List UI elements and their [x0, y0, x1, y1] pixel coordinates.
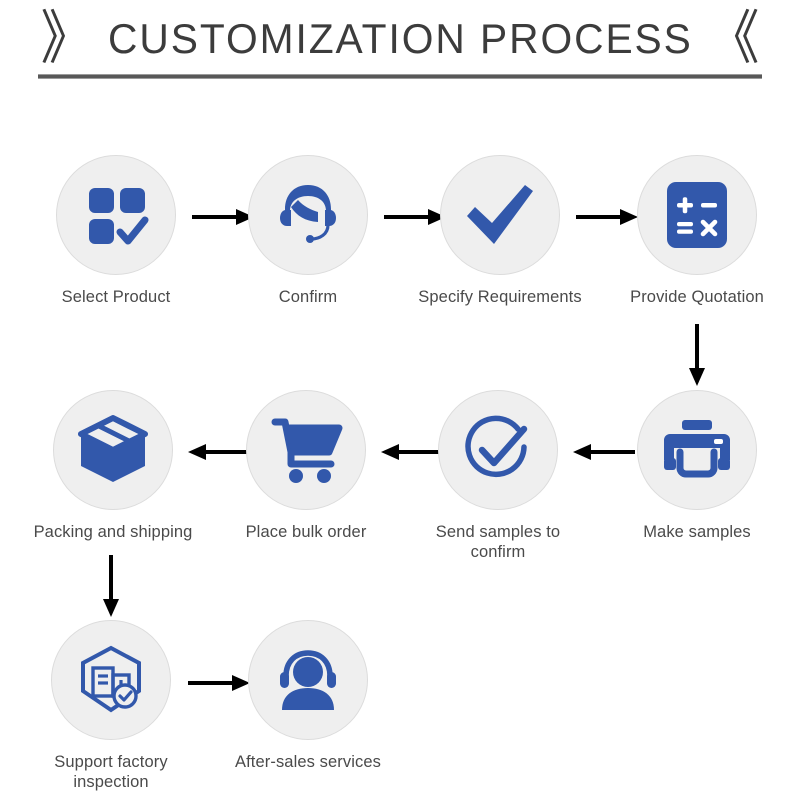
place-bulk-order-bubble: [246, 390, 366, 510]
confirm-bubble: [248, 155, 368, 275]
flow-node-label: Make samples: [612, 522, 782, 542]
connector-arrow-down-1: [688, 324, 706, 386]
chevron-right-decoration: 《: [707, 10, 759, 68]
flow-node-provide-quotation[interactable]: Provide Quotation: [612, 155, 782, 307]
shopping-cart-icon: [269, 416, 343, 484]
flow-node-support-factory-inspection[interactable]: Support factory inspection: [26, 620, 196, 792]
flow-node-packing-and-shipping[interactable]: Packing and shipping: [28, 390, 198, 542]
after-sales-services-bubble: [248, 620, 368, 740]
page-title: CUSTOMIZATION PROCESS: [108, 16, 693, 62]
headset-agent-icon: [273, 180, 343, 250]
circle-check-icon: [462, 414, 534, 486]
process-flow-diagram: Select Product Confirm: [0, 92, 800, 800]
support-person-icon: [272, 648, 344, 712]
flow-node-label: Select Product: [31, 287, 201, 307]
calculator-icon: [664, 179, 730, 251]
flow-node-label: After-sales services: [223, 752, 393, 772]
make-samples-bubble: [637, 390, 757, 510]
flow-node-after-sales-services[interactable]: After-sales services: [223, 620, 393, 772]
flow-node-label: Send samples to confirm: [413, 522, 583, 562]
flow-node-label: Provide Quotation: [612, 287, 782, 307]
packing-and-shipping-bubble: [53, 390, 173, 510]
flow-node-label: Place bulk order: [221, 522, 391, 542]
send-samples-to-confirm-bubble: [438, 390, 558, 510]
grid-check-icon: [82, 181, 150, 249]
chevron-left-decoration: 》: [41, 10, 93, 68]
flow-node-label: Support factory inspection: [26, 752, 196, 792]
title-row: 》 CUSTOMIZATION PROCESS 《: [0, 8, 800, 70]
specify-requirements-bubble: [440, 155, 560, 275]
package-box-icon: [77, 414, 149, 486]
provide-quotation-bubble: [637, 155, 757, 275]
flow-node-send-samples-to-confirm[interactable]: Send samples to confirm: [413, 390, 583, 562]
title-divider: [38, 74, 762, 79]
support-factory-inspection-bubble: [51, 620, 171, 740]
printer-icon: [662, 418, 732, 482]
flow-node-label: Specify Requirements: [415, 287, 585, 307]
flow-node-place-bulk-order[interactable]: Place bulk order: [221, 390, 391, 542]
page-header: 》 CUSTOMIZATION PROCESS 《: [0, 0, 800, 92]
flow-node-make-samples[interactable]: Make samples: [612, 390, 782, 542]
factory-shield-check-icon: [75, 644, 147, 716]
flow-node-select-product[interactable]: Select Product: [31, 155, 201, 307]
flow-node-confirm[interactable]: Confirm: [223, 155, 393, 307]
flow-node-label: Confirm: [223, 287, 393, 307]
checkmark-icon: [463, 178, 537, 252]
select-product-bubble: [56, 155, 176, 275]
flow-node-specify-requirements[interactable]: Specify Requirements: [415, 155, 585, 307]
flow-node-label: Packing and shipping: [28, 522, 198, 542]
connector-arrow-down-2: [102, 555, 120, 617]
